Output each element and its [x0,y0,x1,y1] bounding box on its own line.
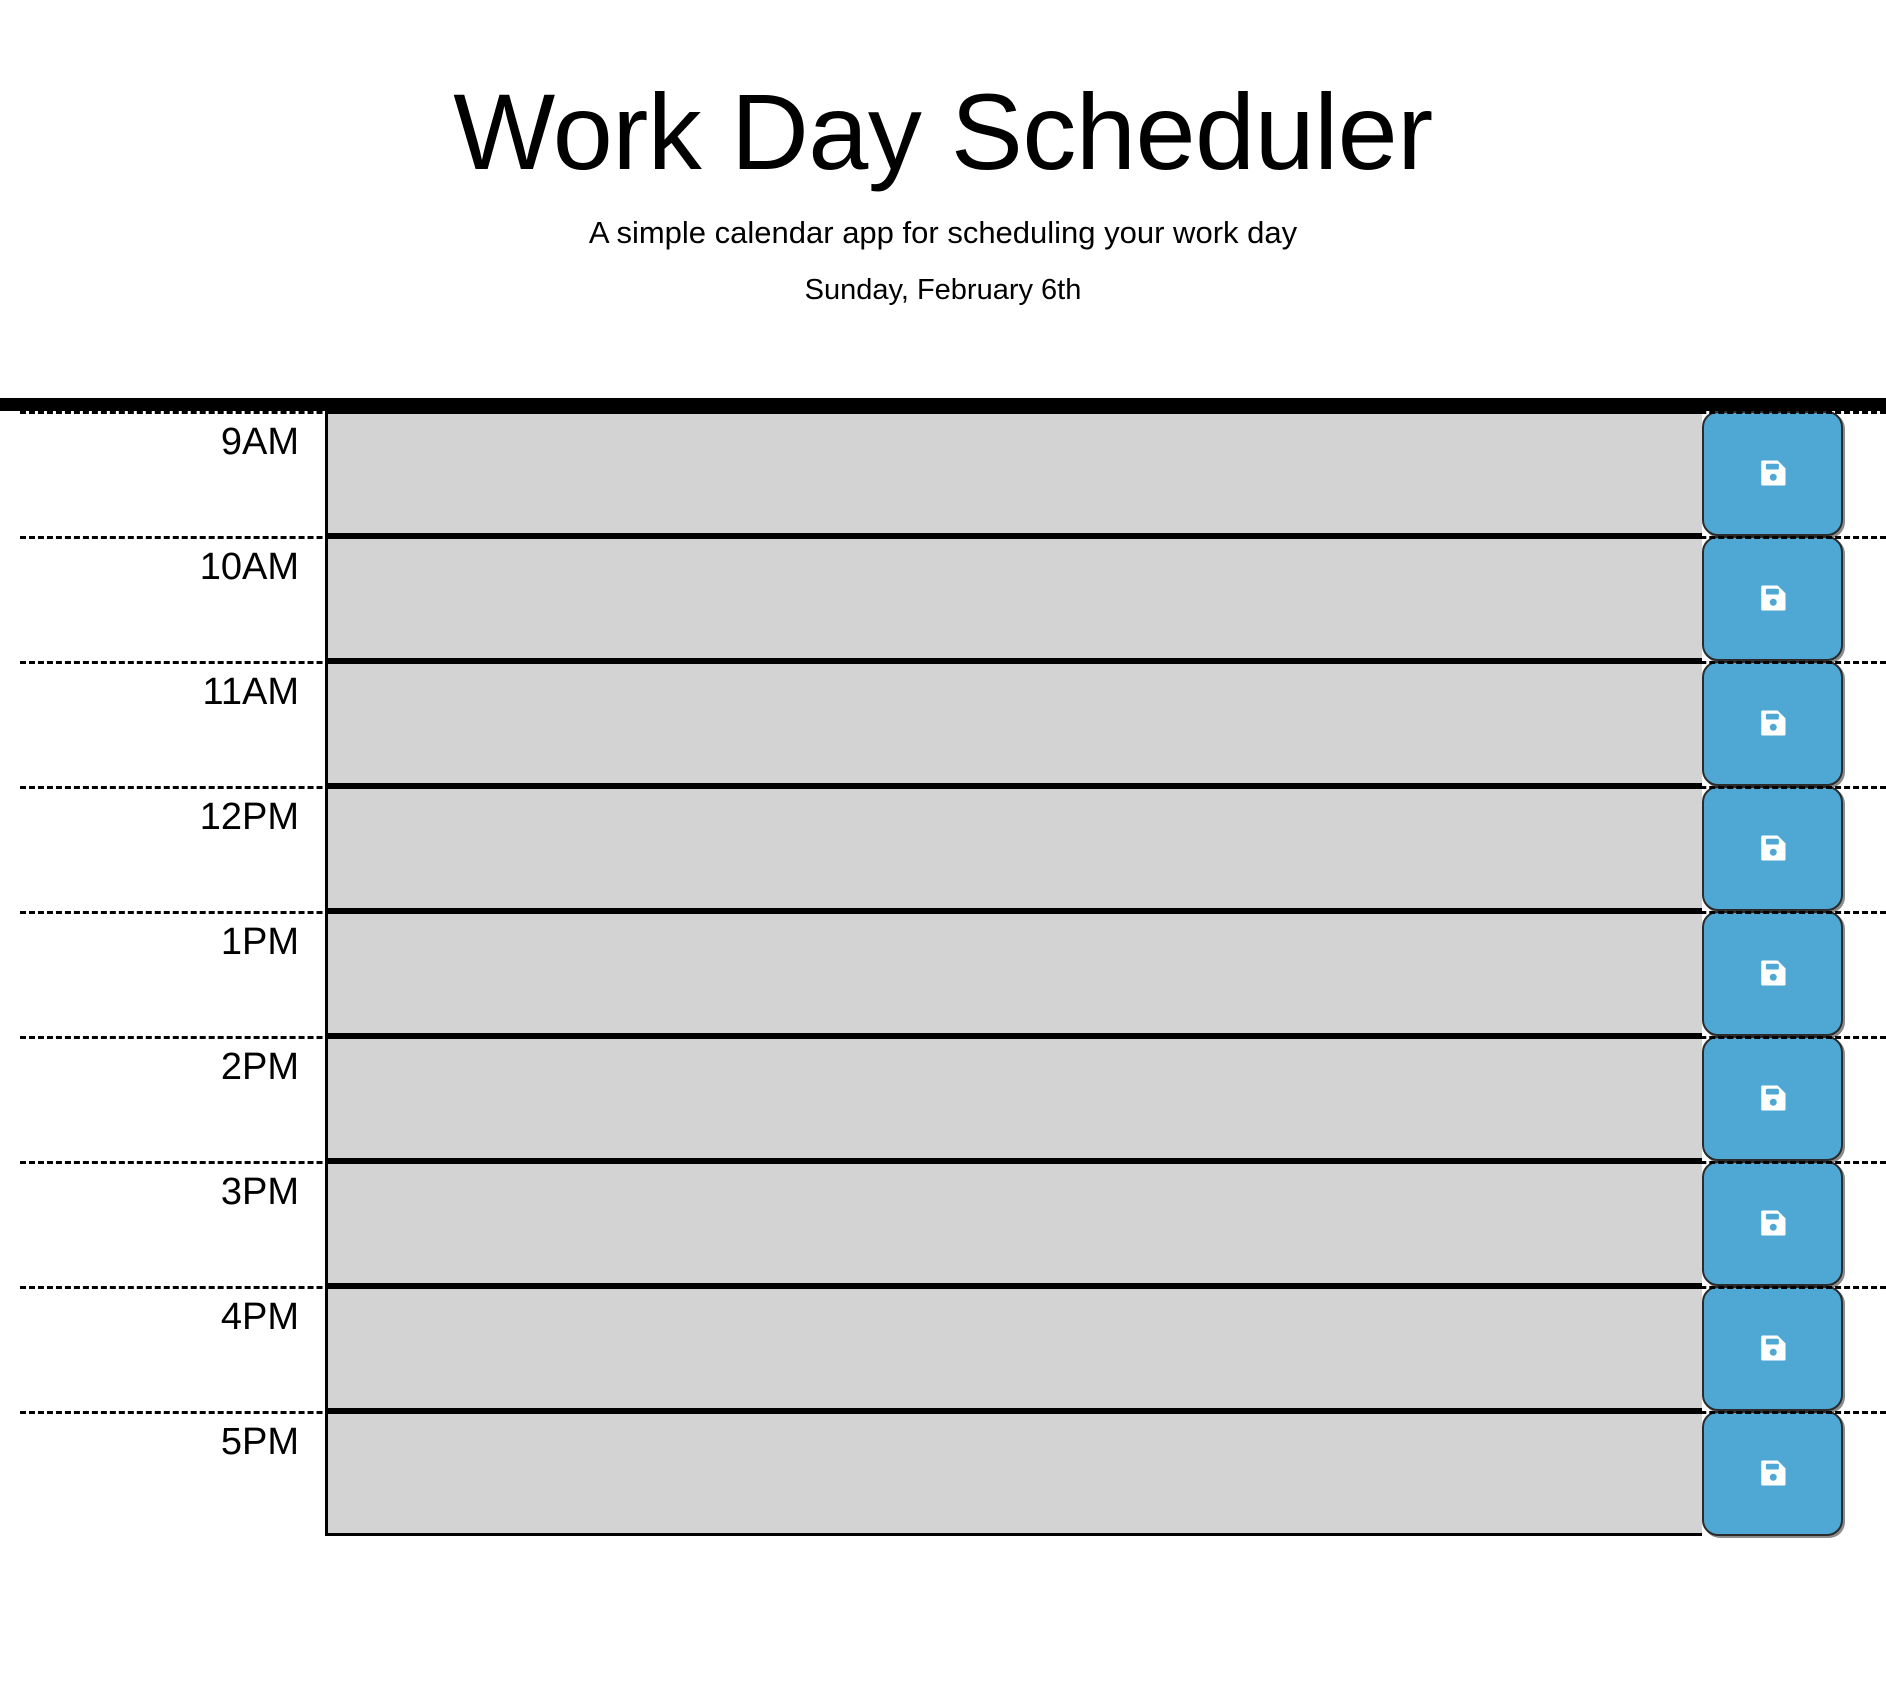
right-gutter [1843,1411,1886,1536]
event-input-hour-12[interactable] [325,786,1702,911]
hour-label-hour-16: 4PM [0,1286,325,1411]
save-floppy-icon [1758,833,1788,863]
event-input-hour-9[interactable] [325,411,1702,536]
time-block: 4PM [0,1286,1886,1411]
time-block: 5PM [0,1411,1886,1536]
hour-label-hour-10: 10AM [0,536,325,661]
right-gutter [1843,661,1886,786]
event-input-hour-15[interactable] [325,1161,1702,1286]
right-gutter [1843,911,1886,1036]
page-subtitle: A simple calendar app for scheduling you… [0,214,1886,251]
time-block: 2PM [0,1036,1886,1161]
save-floppy-icon [1758,1208,1788,1238]
save-floppy-icon [1758,583,1788,613]
page-header: Work Day Scheduler A simple calendar app… [0,0,1886,308]
schedule-container: 9AM10AM11AM12PM1PM2PM3PM4PM5PM [0,411,1886,1536]
time-block: 9AM [0,411,1886,536]
right-gutter [1843,786,1886,911]
header-divider [0,398,1886,411]
time-block: 3PM [0,1161,1886,1286]
save-button-hour-14[interactable] [1702,1036,1843,1161]
save-button-hour-12[interactable] [1702,786,1843,911]
hour-label-hour-12: 12PM [0,786,325,911]
event-input-hour-13[interactable] [325,911,1702,1036]
right-gutter [1843,411,1886,536]
current-date: Sunday, February 6th [0,273,1886,308]
event-input-hour-14[interactable] [325,1036,1702,1161]
hour-label-hour-13: 1PM [0,911,325,1036]
save-button-hour-15[interactable] [1702,1161,1843,1286]
time-block: 1PM [0,911,1886,1036]
event-input-hour-17[interactable] [325,1411,1702,1536]
save-floppy-icon [1758,1083,1788,1113]
time-block: 12PM [0,786,1886,911]
hour-label-hour-15: 3PM [0,1161,325,1286]
save-floppy-icon [1758,1458,1788,1488]
save-floppy-icon [1758,958,1788,988]
hour-label-hour-17: 5PM [0,1411,325,1536]
right-gutter [1843,1036,1886,1161]
save-button-hour-9[interactable] [1702,411,1843,536]
save-floppy-icon [1758,1333,1788,1363]
save-floppy-icon [1758,708,1788,738]
hour-label-hour-11: 11AM [0,661,325,786]
save-button-hour-11[interactable] [1702,661,1843,786]
page-title: Work Day Scheduler [0,78,1886,186]
event-input-hour-10[interactable] [325,536,1702,661]
time-block: 11AM [0,661,1886,786]
save-button-hour-10[interactable] [1702,536,1843,661]
right-gutter [1843,1161,1886,1286]
right-gutter [1843,1286,1886,1411]
hour-label-hour-14: 2PM [0,1036,325,1161]
event-input-hour-16[interactable] [325,1286,1702,1411]
event-input-hour-11[interactable] [325,661,1702,786]
right-gutter [1843,536,1886,661]
save-floppy-icon [1758,458,1788,488]
save-button-hour-16[interactable] [1702,1286,1843,1411]
save-button-hour-13[interactable] [1702,911,1843,1036]
hour-label-hour-9: 9AM [0,411,325,536]
save-button-hour-17[interactable] [1702,1411,1843,1536]
time-block: 10AM [0,536,1886,661]
